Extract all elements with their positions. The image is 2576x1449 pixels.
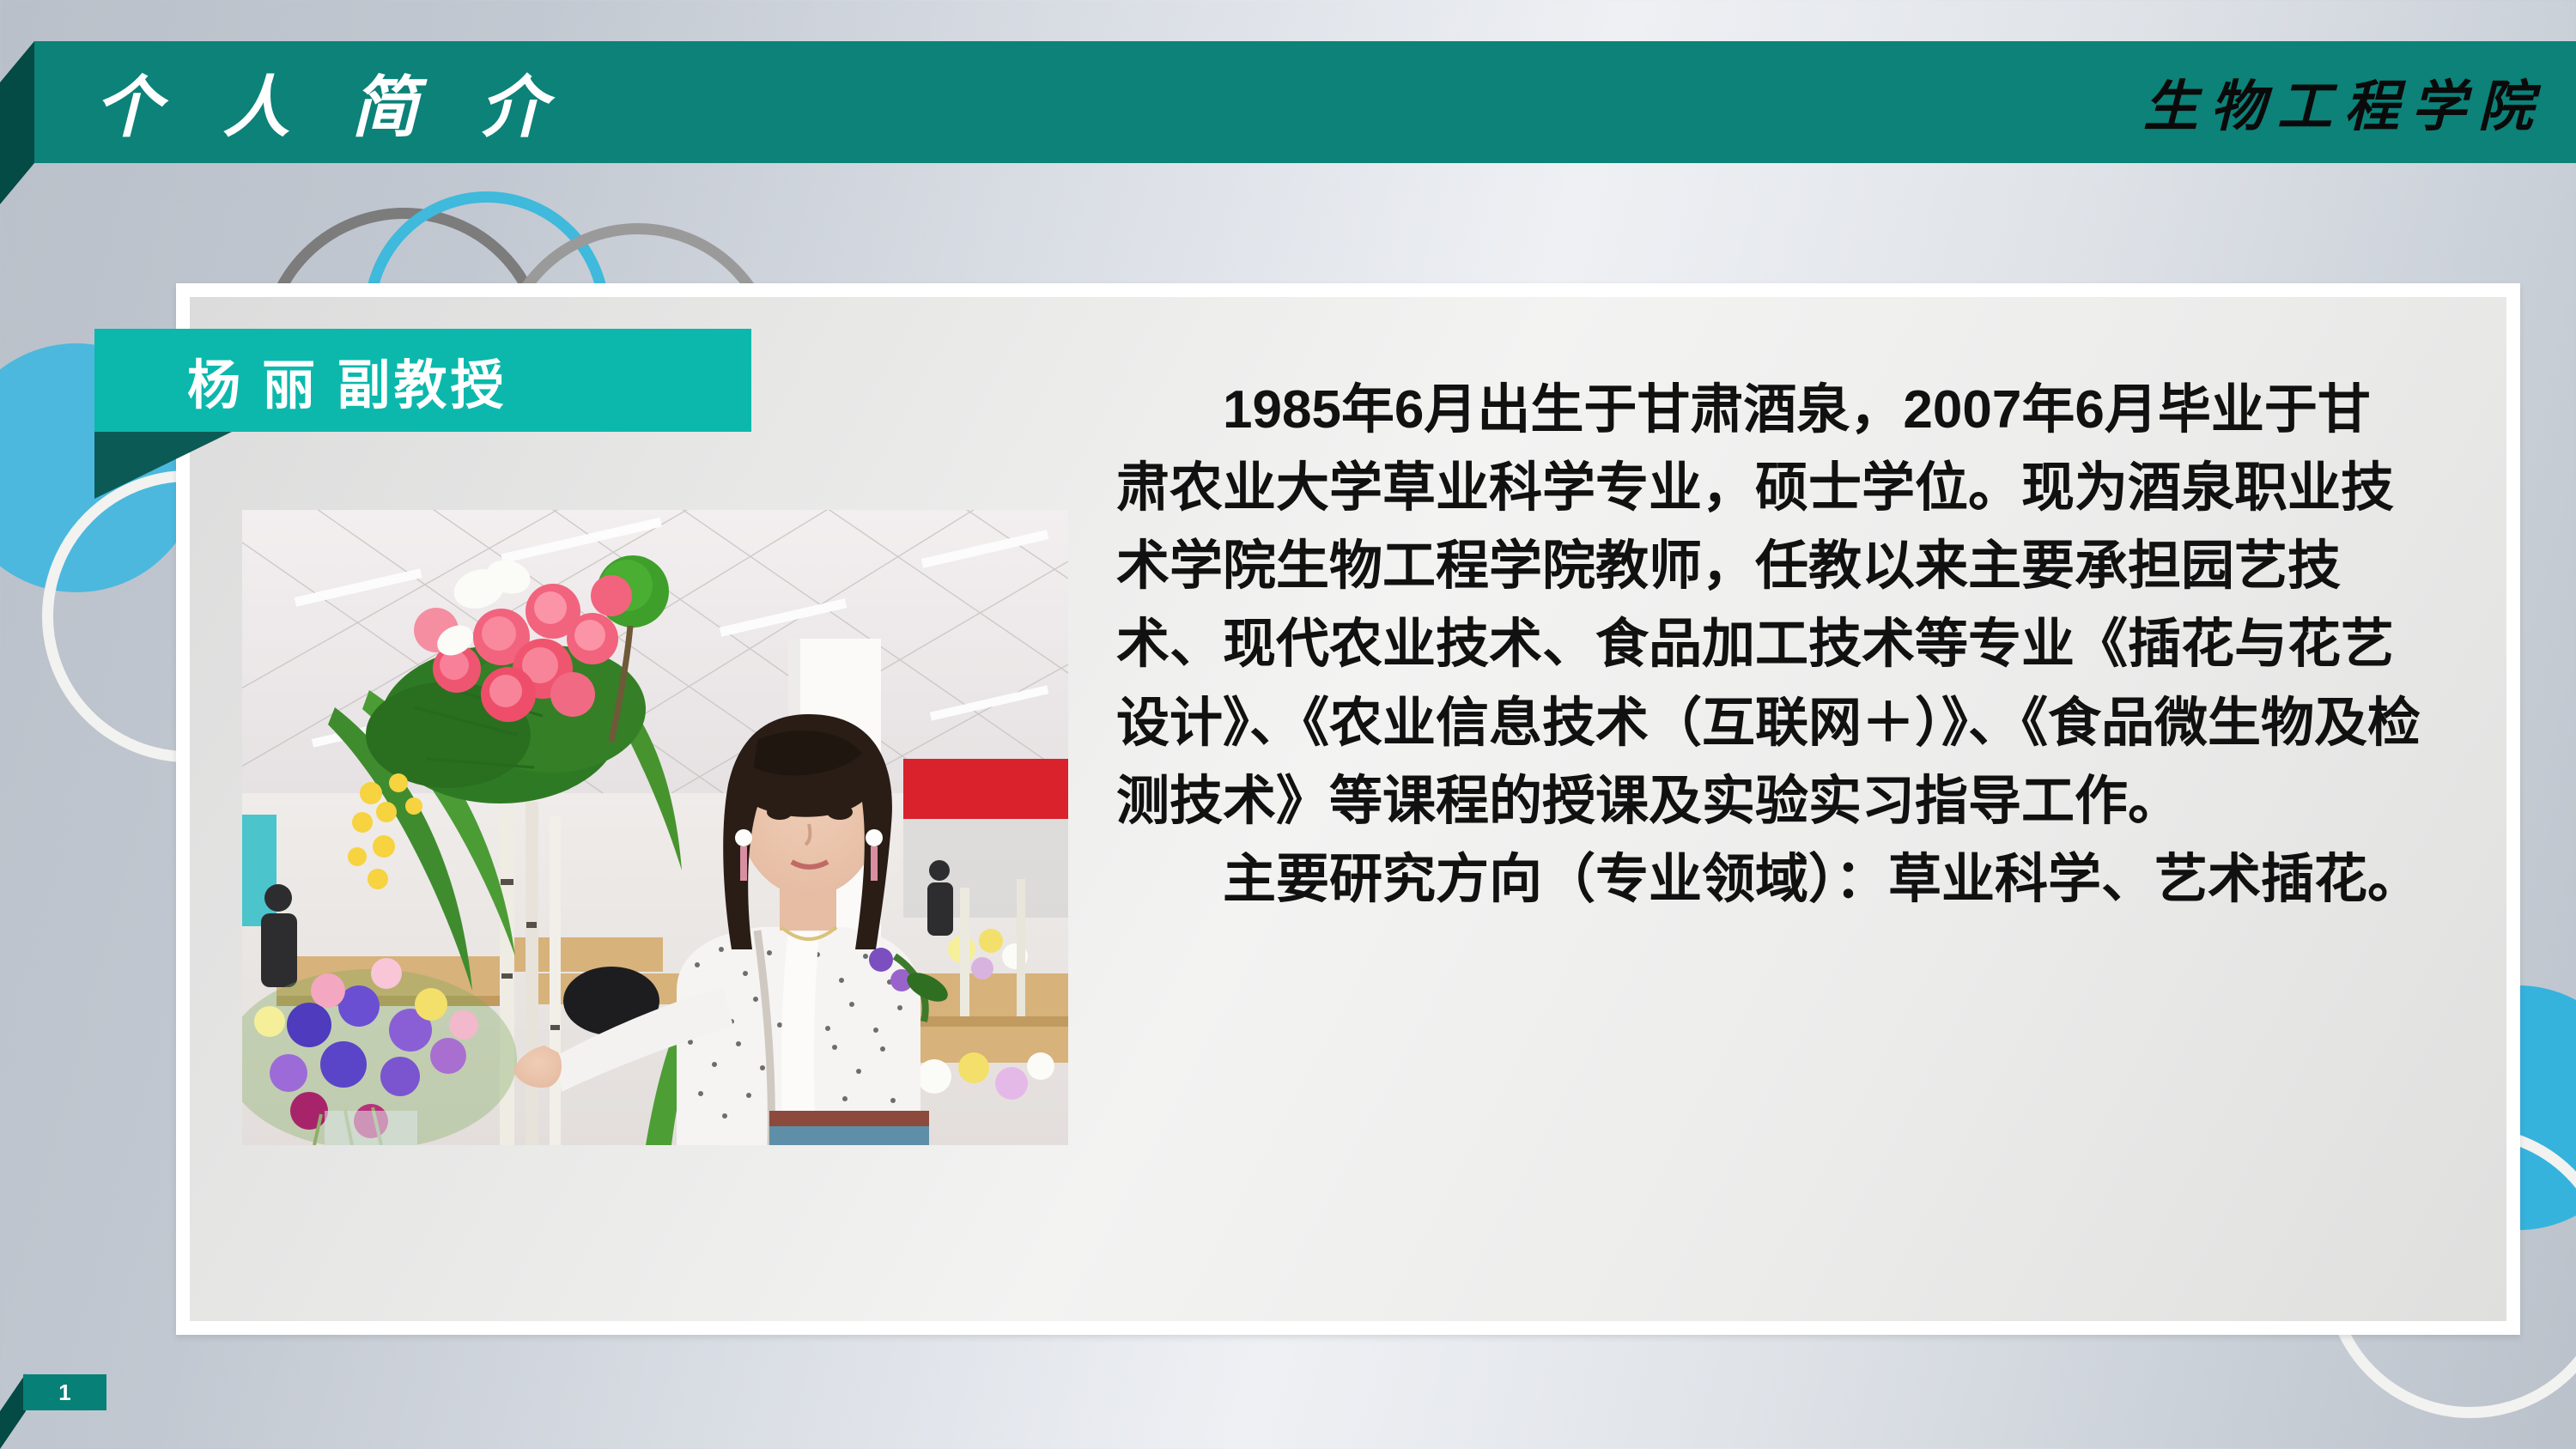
page-number: 1	[23, 1374, 106, 1410]
instructor-photo	[242, 510, 1068, 1145]
bio-paragraph-1: 1985年6月出生于甘肃酒泉，2007年6月毕业于甘肃农业大学草业科学专业，硕士…	[1116, 371, 2421, 840]
header-banner-fold-icon	[0, 41, 34, 204]
page-number-fold-icon	[0, 1373, 26, 1449]
name-badge-fold-icon	[94, 432, 232, 503]
instructor-name-and-title: 杨 丽 副教授	[187, 342, 507, 419]
biography-text: 1985年6月出生于甘肃酒泉，2007年6月毕业于甘肃农业大学草业科学专业，硕士…	[1116, 371, 2421, 919]
bio-paragraph-2: 主要研究方向（专业领域）：草业科学、艺术插花。	[1116, 840, 2421, 919]
page-title: 个 人 简 介	[94, 54, 569, 150]
organization-name: 生物工程学院	[2143, 63, 2545, 142]
name-badge: 杨 丽 副教授	[94, 329, 751, 432]
header-banner: 个 人 简 介 生物工程学院	[34, 41, 2576, 163]
